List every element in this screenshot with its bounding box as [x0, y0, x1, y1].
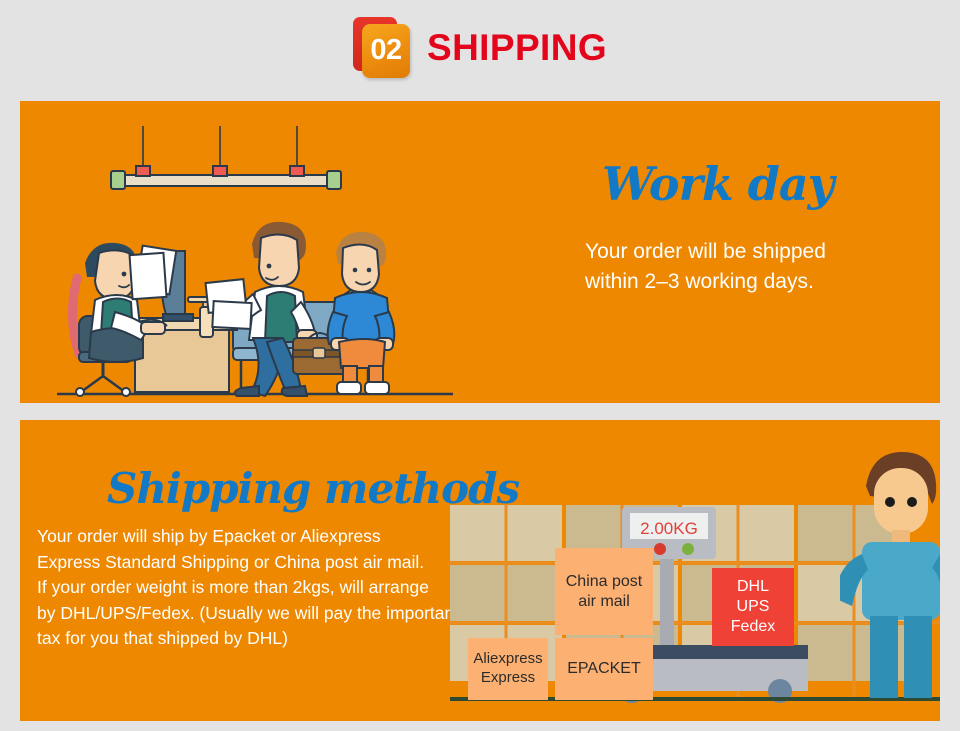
label-epacket: EPACKET	[555, 638, 653, 700]
work-day-body: Your order will be shipped within 2–3 wo…	[585, 237, 930, 298]
label-couriers-line-3: Fedex	[731, 617, 775, 637]
handoff-document-icon	[206, 279, 252, 329]
badge-front-shape: 02	[362, 24, 410, 78]
warehouse-worker-icon	[840, 442, 940, 704]
work-day-heading: Work day	[602, 161, 930, 207]
scale-reading-text: 2.00KG	[640, 519, 698, 538]
label-china-post: China post air mail	[555, 548, 653, 635]
label-epacket-line-1: EPACKET	[567, 659, 641, 679]
label-china-post-line-1: China post	[566, 572, 643, 592]
badge-number: 02	[370, 36, 401, 65]
documents-icon	[130, 246, 177, 300]
page-header: 02 SHIPPING	[0, 0, 960, 95]
section-number-badge: 02	[353, 17, 413, 79]
indicator-light-red	[654, 543, 666, 555]
shipping-methods-panel: Shipping methods Your order will ship by…	[20, 420, 940, 721]
label-couriers-line-1: DHL	[737, 577, 769, 597]
shipping-info-page: 02 SHIPPING	[0, 0, 960, 731]
work-day-panel: Work day Your order will be shipped with…	[20, 101, 940, 403]
label-aliexpress: Aliexpress Express	[468, 638, 548, 700]
label-couriers-line-2: UPS	[737, 597, 770, 617]
lamp-cords-icon	[143, 126, 297, 167]
label-china-post-line-2: air mail	[578, 592, 630, 612]
shipping-methods-heading: Shipping methods	[107, 468, 537, 510]
label-aliexpress-line-2: Express	[481, 669, 535, 688]
work-day-body-line-2: within 2–3 working days.	[585, 270, 814, 293]
label-express-couriers: DHL UPS Fedex	[712, 568, 794, 646]
office-meeting-illustration	[55, 126, 455, 401]
ceiling-lamp-icon	[111, 166, 341, 189]
indicator-light-green	[682, 543, 694, 555]
page-title: SHIPPING	[427, 27, 607, 69]
label-aliexpress-line-1: Aliexpress	[473, 650, 542, 669]
work-day-body-line-1: Your order will be shipped	[585, 240, 826, 263]
work-day-text-block: Work day Your order will be shipped with…	[585, 161, 930, 298]
